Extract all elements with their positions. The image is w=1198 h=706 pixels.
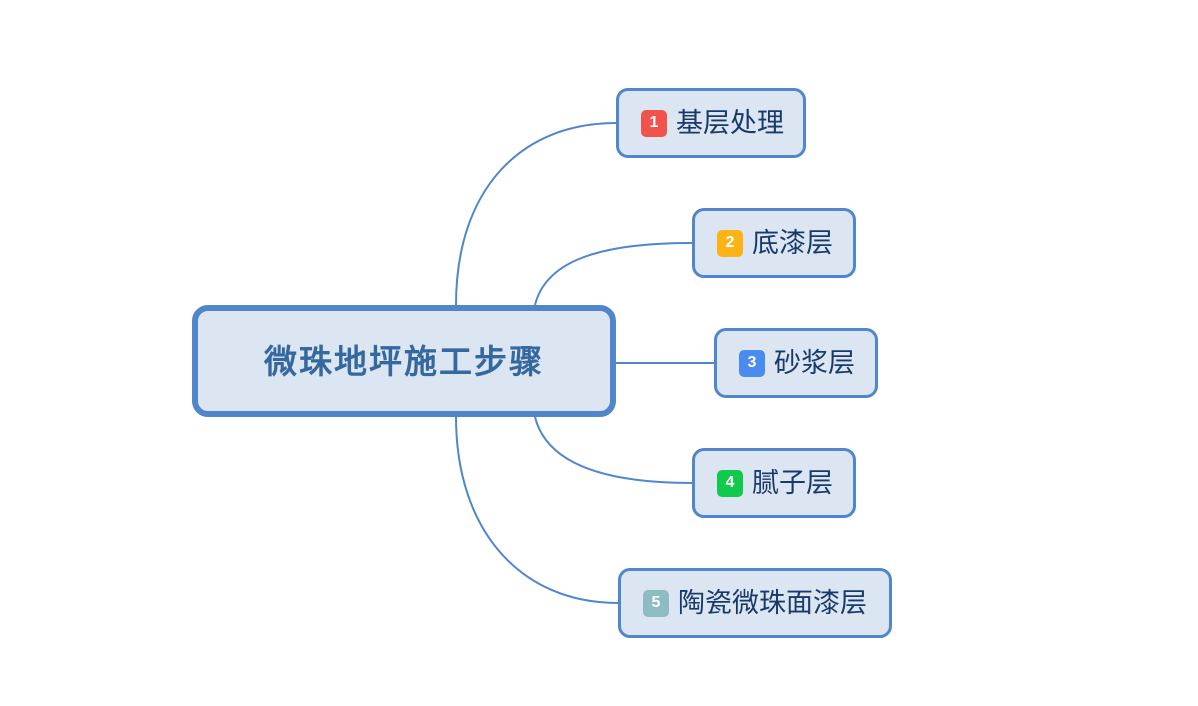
connector-to-node-2 [535, 243, 692, 305]
step-number-badge-4: 4 [717, 470, 743, 497]
connector-to-node-1 [456, 123, 616, 305]
step-number-badge-3: 3 [739, 350, 765, 377]
child-node-label-4: 腻子层 [752, 470, 833, 497]
child-node-1[interactable]: 1 基层处理 [616, 88, 806, 158]
child-node-label-1: 基层处理 [676, 110, 784, 137]
child-node-label-2: 底漆层 [752, 230, 833, 257]
step-number-badge-2: 2 [717, 230, 743, 257]
root-node-label: 微珠地坪施工步骤 [264, 345, 544, 378]
connector-to-node-5 [456, 417, 618, 603]
connector-to-node-4 [535, 417, 692, 483]
mindmap-canvas: 微珠地坪施工步骤 1 基层处理 2 底漆层 3 砂浆层 4 腻子层 5 陶瓷微珠… [0, 0, 1198, 706]
child-node-3[interactable]: 3 砂浆层 [714, 328, 878, 398]
step-number-badge-5: 5 [643, 590, 669, 617]
child-node-label-5: 陶瓷微珠面漆层 [678, 590, 867, 617]
step-number-badge-1: 1 [641, 110, 667, 137]
child-node-2[interactable]: 2 底漆层 [692, 208, 856, 278]
child-node-4[interactable]: 4 腻子层 [692, 448, 856, 518]
child-node-5[interactable]: 5 陶瓷微珠面漆层 [618, 568, 892, 638]
child-node-label-3: 砂浆层 [774, 350, 855, 377]
root-node[interactable]: 微珠地坪施工步骤 [192, 305, 616, 417]
